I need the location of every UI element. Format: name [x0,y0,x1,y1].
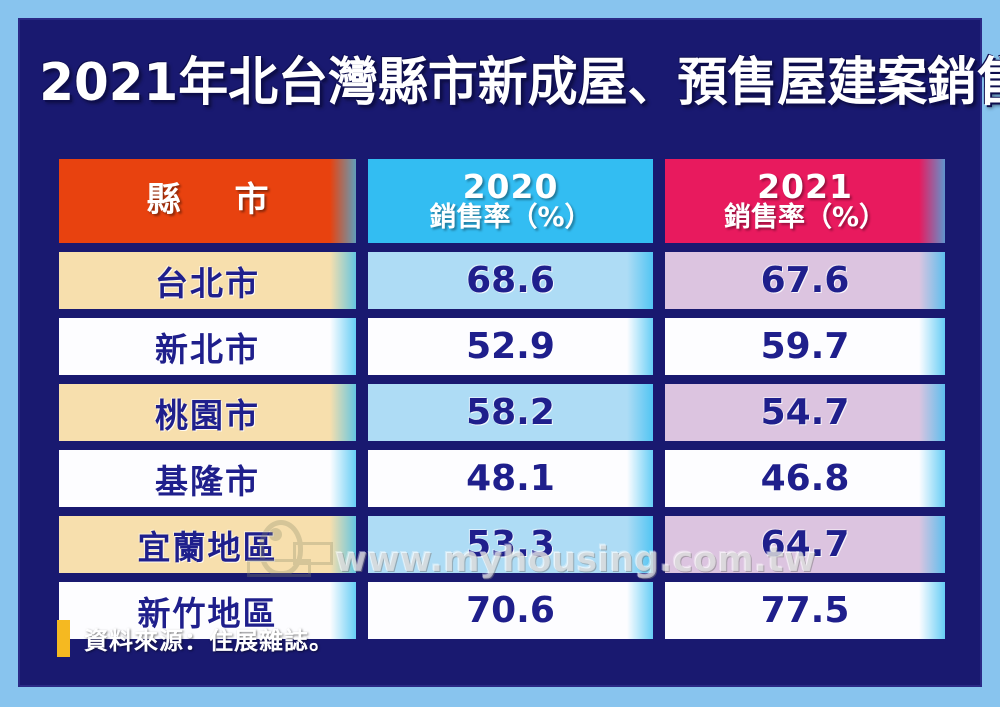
cell-2021: 54.7 [663,382,947,443]
cell-2021: 59.7 [663,316,947,377]
data-table: 縣 市 2020 銷售率（%） 2021 銷售率（%） 台北市 68.6 67.… [57,157,947,641]
cell-city: 台北市 [57,250,358,311]
cell-edge-fade [627,318,653,375]
cell-2020: 70.6 [366,580,655,641]
header-cell-2020: 2020 銷售率（%） [366,157,655,245]
footer-accent-bar [57,620,70,657]
cell-2021: 77.5 [663,580,947,641]
header-cell-city: 縣 市 [57,157,358,245]
table-header-row: 縣 市 2020 銷售率（%） 2021 銷售率（%） [57,157,947,245]
cell-2020: 53.3 [366,514,655,575]
cell-edge-fade [919,582,945,639]
header-2021-sub: 銷售率（%） [724,204,886,232]
cell-edge-fade [919,318,945,375]
cell-edge-fade [627,450,653,507]
cell-edge-fade [627,159,653,243]
cell-2020: 58.2 [366,382,655,443]
content-panel: 2021年北台灣縣市新成屋、預售屋建案銷售率 縣 市 2020 銷售率（%） 2… [18,18,982,687]
infographic-root: 2021年北台灣縣市新成屋、預售屋建案銷售率 縣 市 2020 銷售率（%） 2… [0,0,1000,707]
footer: 資料來源：住展雜誌。 [57,620,334,657]
cell-edge-fade [330,384,356,441]
cell-2020: 68.6 [366,250,655,311]
source-note: 資料來源：住展雜誌。 [84,621,334,656]
table-row: 新北市 52.9 59.7 [57,316,947,377]
cell-city: 宜蘭地區 [57,514,358,575]
table-row: 台北市 68.6 67.6 [57,250,947,311]
header-2020-sub: 銷售率（%） [429,204,591,232]
cell-edge-fade [330,516,356,573]
cell-edge-fade [330,318,356,375]
cell-2021: 64.7 [663,514,947,575]
cell-edge-fade [919,384,945,441]
header-2020-year: 2020 [463,170,559,205]
cell-edge-fade [330,252,356,309]
cell-city: 基隆市 [57,448,358,509]
cell-city: 桃園市 [57,382,358,443]
cell-edge-fade [627,582,653,639]
header-2021-year: 2021 [757,170,853,205]
cell-edge-fade [627,516,653,573]
cell-edge-fade [330,159,356,243]
cell-edge-fade [627,252,653,309]
cell-edge-fade [330,450,356,507]
cell-2021: 67.6 [663,250,947,311]
cell-edge-fade [919,252,945,309]
cell-edge-fade [627,384,653,441]
cell-city: 新北市 [57,316,358,377]
header-city-label: 縣 市 [137,183,279,219]
header-cell-2021: 2021 銷售率（%） [663,157,947,245]
table-row: 宜蘭地區 53.3 64.7 [57,514,947,575]
cell-edge-fade [919,516,945,573]
cell-2020: 52.9 [366,316,655,377]
cell-edge-fade [919,159,945,243]
cell-2020: 48.1 [366,448,655,509]
table-row: 基隆市 48.1 46.8 [57,448,947,509]
table-row: 桃園市 58.2 54.7 [57,382,947,443]
cell-edge-fade [919,450,945,507]
page-title: 2021年北台灣縣市新成屋、預售屋建案銷售率 [39,57,964,109]
cell-2021: 46.8 [663,448,947,509]
